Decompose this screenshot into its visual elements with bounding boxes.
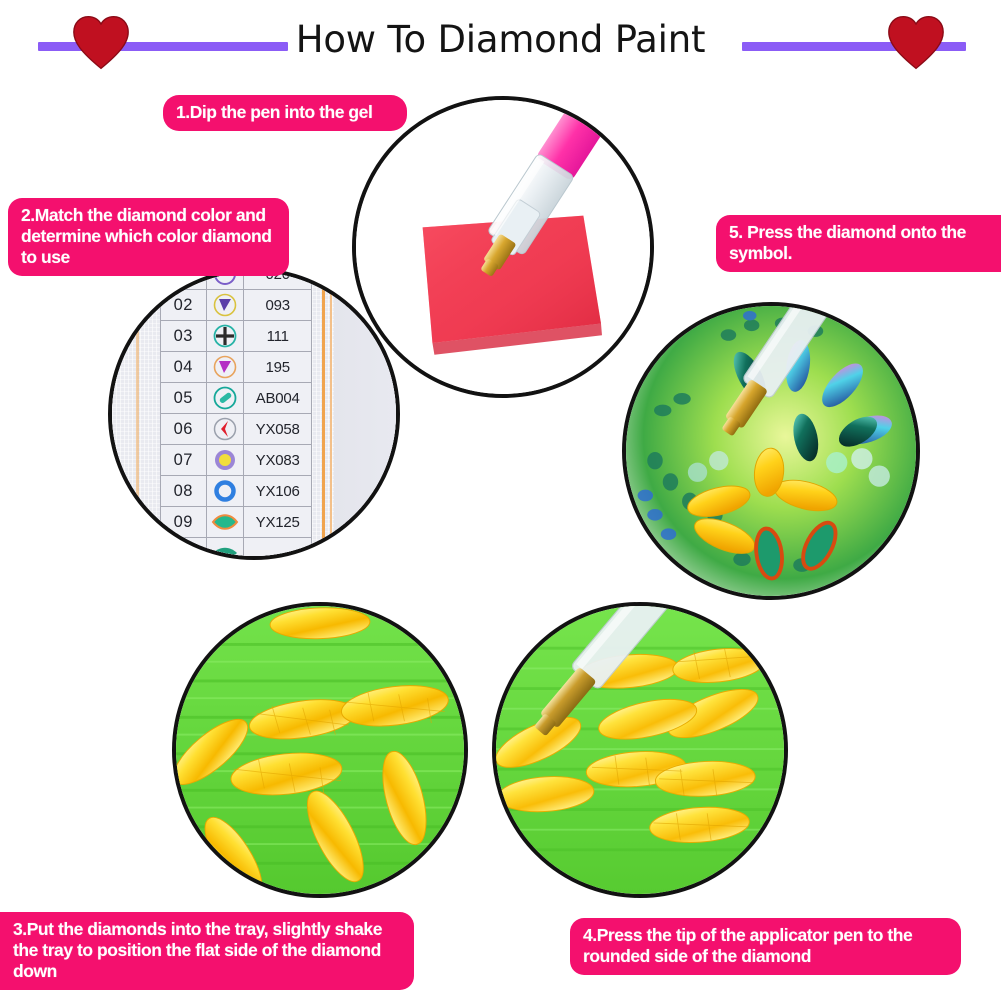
table-row: 09 YX125 [161,507,312,538]
legend-code [244,538,312,561]
chart-guide-line-secondary [330,272,332,556]
filled-triangle-symbol-icon [206,352,244,383]
filled-triangle-symbol-icon [206,290,244,321]
color-legend-body: 01 020 02 093 03 [161,268,312,560]
legend-index: 08 [161,476,207,507]
step-5-photo [622,302,920,600]
how-to-diamond-paint-infographic: How To Diamond Paint [0,0,1001,1001]
legend-index: 02 [161,290,207,321]
legend-index [161,538,207,561]
pen-picking-diamond-illustration [496,606,784,894]
left-arrow-chevron-symbol-icon [206,414,244,445]
plus-cross-symbol-icon [206,321,244,352]
legend-index: 06 [161,414,207,445]
table-row: 03 111 [161,321,312,352]
leaf-marquise-symbol-icon [206,538,244,561]
step-3-label: 3.Put the diamonds into the tray, slight… [0,912,414,990]
legend-index: 04 [161,352,207,383]
filled-dot-symbol-icon [206,445,244,476]
legend-code: YX058 [244,414,312,445]
table-row: 02 093 [161,290,312,321]
legend-code: YX106 [244,476,312,507]
legend-code: YX125 [244,507,312,538]
step-1-photo [352,96,654,398]
slanted-bar-symbol-icon [206,383,244,414]
step-4-photo [492,602,788,898]
table-row [161,538,312,561]
pen-in-gel-illustration [356,100,650,394]
chart-guide-line [322,272,325,556]
color-legend-table: 01 020 02 093 03 [160,268,312,560]
mandala-canvas-illustration [626,306,916,596]
chart-blank-area [334,272,400,556]
table-row: 06 YX058 [161,414,312,445]
chart-left-guide-line [136,272,139,556]
legend-code: 195 [244,352,312,383]
legend-code: YX083 [244,445,312,476]
step-2-photo: 01 020 02 093 03 [108,268,400,560]
step-1-label: 1.Dip the pen into the gel [163,95,407,131]
table-row: 07 YX083 [161,445,312,476]
legend-index: 07 [161,445,207,476]
legend-index: 05 [161,383,207,414]
legend-code: AB004 [244,383,312,414]
step-3-photo [172,602,468,898]
step-4-label: 4.Press the tip of the applicator pen to… [570,918,961,975]
table-row: 08 YX106 [161,476,312,507]
legend-code: 093 [244,290,312,321]
diamonds-in-tray-illustration [176,606,464,894]
ring-circle-symbol-icon [206,476,244,507]
legend-code: 111 [244,321,312,352]
page-title: How To Diamond Paint [0,18,1001,61]
step-5-label: 5. Press the diamond onto the symbol. [716,215,1001,272]
header: How To Diamond Paint [0,0,1001,80]
table-row: 05 AB004 [161,383,312,414]
legend-index: 03 [161,321,207,352]
step-2-label: 2.Match the diamond color and determine … [8,198,289,276]
table-row: 04 195 [161,352,312,383]
legend-index: 09 [161,507,207,538]
leaf-marquise-symbol-icon [206,507,244,538]
color-chart-photo: 01 020 02 093 03 [112,272,396,556]
